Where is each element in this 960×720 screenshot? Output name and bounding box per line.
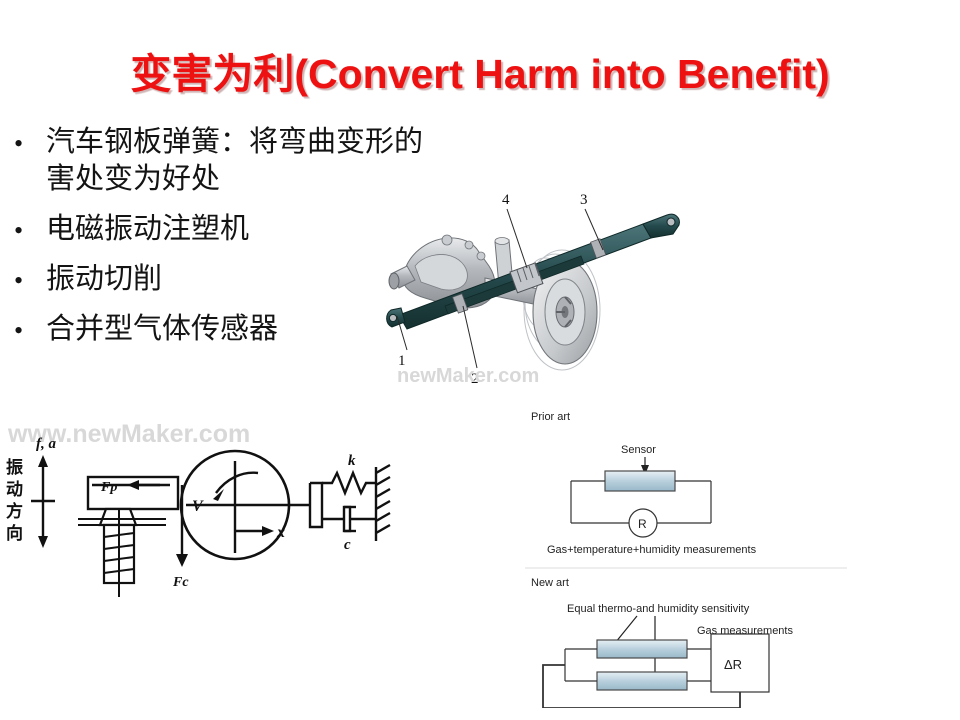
list-item: • 合并型气体传感器: [12, 311, 432, 348]
figure-vibration-cutting: www.newMaker.com f, a 振 动 方 向: [0, 415, 400, 605]
slide-root: 变害为利(Convert Harm into Benefit) • 汽车钢板弹簧…: [0, 0, 960, 720]
svg-text:向: 向: [6, 523, 23, 543]
prior-art-heading: Prior art: [531, 411, 570, 423]
bullet-marker-icon: •: [14, 262, 23, 299]
svg-text:方: 方: [6, 501, 23, 521]
label-force-p: Fp: [100, 480, 117, 495]
svg-text:振: 振: [6, 457, 23, 477]
label-velocity: V: [192, 498, 204, 515]
figure-leaf-spring-axle: 4 3 1 2 newMaker.com: [385, 182, 685, 402]
bullet-text-line1: 合并型气体传感器: [46, 313, 278, 345]
label-damper-c: c: [344, 537, 351, 553]
label-spring-k: k: [348, 453, 356, 469]
prior-caption: Gas+temperature+humidity measurements: [547, 544, 757, 556]
bullet-marker-icon: •: [14, 312, 23, 349]
new-meter-label: ΔR: [724, 657, 742, 672]
bullet-text-line1: 振动切削: [46, 263, 162, 295]
list-item: • 汽车钢板弹簧：将弯曲变形的 害处变为好处: [12, 124, 432, 198]
page-title: 变害为利(Convert Harm into Benefit): [0, 40, 960, 100]
bullet-marker-icon: •: [14, 125, 23, 162]
callout-label-4: 4: [502, 192, 510, 208]
figure-gas-sensor: Prior art Sensor R Gas+temperature+humid…: [525, 408, 855, 713]
svg-text:动: 动: [6, 480, 23, 499]
spring-damper-model: [310, 465, 390, 541]
prior-meter-label: R: [638, 517, 647, 531]
bullet-text-line2: 害处变为好处: [46, 161, 432, 198]
new-sensitivity-label: Equal thermo-and humidity sensitivity: [567, 603, 750, 615]
bullet-text-line1: 汽车钢板弹簧：将弯曲变形的: [46, 126, 423, 158]
label-axis-x: x: [276, 524, 285, 541]
list-item: • 电磁振动注塑机: [12, 211, 432, 248]
bullet-list: • 汽车钢板弹簧：将弯曲变形的 害处变为好处 • 电磁振动注塑机 • 振动切削 …: [12, 124, 432, 361]
watermark-newmaker: newMaker.com: [397, 365, 539, 387]
list-item: • 振动切削: [12, 261, 432, 298]
prior-sensor-label: Sensor: [621, 444, 656, 456]
label-f-a: f, a: [36, 436, 56, 452]
bullet-marker-icon: •: [14, 212, 23, 249]
label-vibration-direction: 振 动 方 向: [6, 457, 23, 543]
bullet-text-line1: 电磁振动注塑机: [46, 213, 249, 245]
callout-label-3: 3: [580, 192, 588, 208]
label-force-c: Fc: [172, 575, 189, 590]
new-art-heading: New art: [531, 577, 569, 589]
